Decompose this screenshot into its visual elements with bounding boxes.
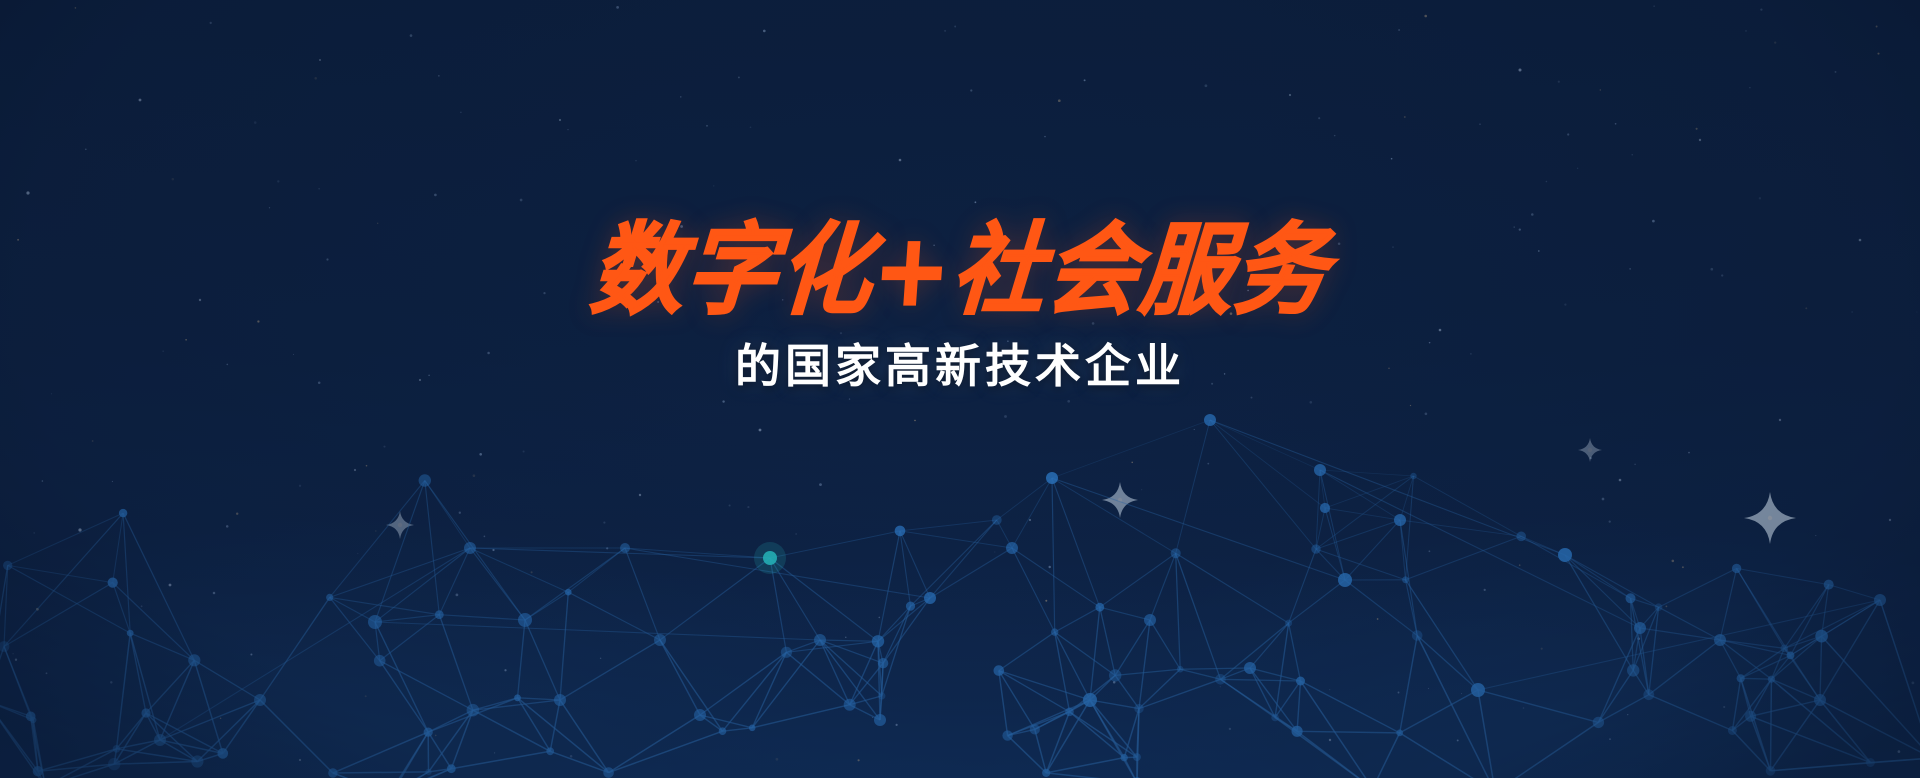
hero-text-block: 数字化+社会服务 的国家高新技术企业 bbox=[0, 225, 1920, 389]
hero-banner: 数字化+社会服务 的国家高新技术企业 bbox=[0, 0, 1920, 778]
page-subtitle: 的国家高新技术企业 bbox=[0, 343, 1920, 389]
page-title: 数字化+社会服务 bbox=[0, 221, 1920, 320]
